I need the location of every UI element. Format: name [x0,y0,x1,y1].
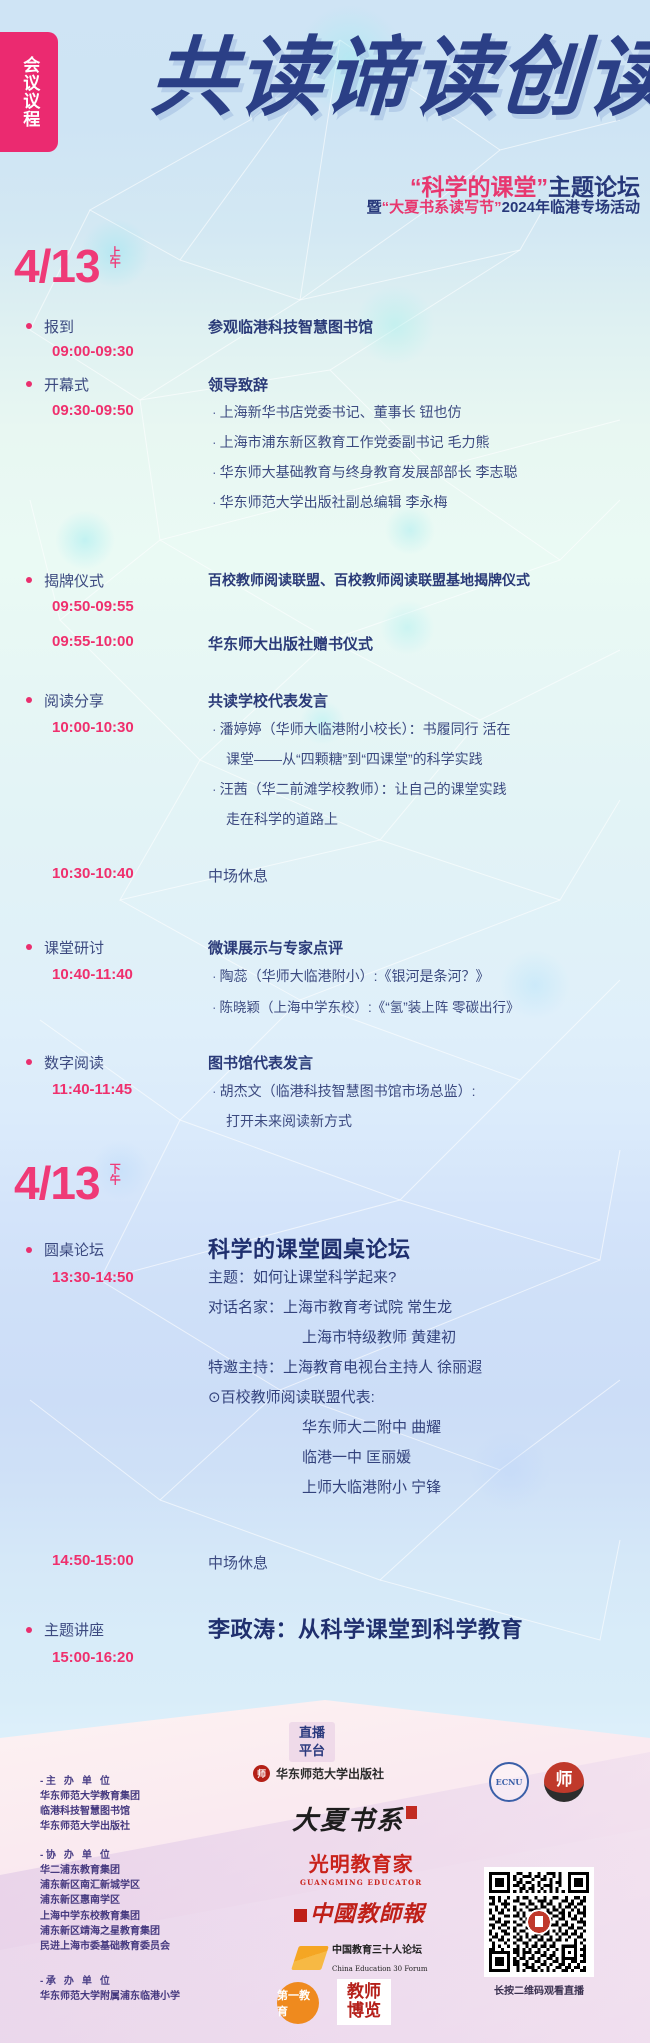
row-item-continuation: 打开未来阅读新方式 [226,1111,352,1131]
roundtable-guests-line2: 上海市特级教师 黄建初 [302,1326,456,1347]
item-dot: · [212,464,217,480]
row-heading: 参观临港科技智慧图书馆 [208,316,373,337]
ecnu-press-emblem-icon: 师 [544,1762,584,1802]
logo-jiaoshi-bolan: 教师 博览 [337,1979,391,2025]
item-dot: · [212,1000,217,1015]
guangming-cn: 光明教育家 [309,1852,414,1876]
row-item: ·潘婷婷（华师大临港附小校长）：书履同行 活在 [212,719,511,739]
organizer-item: 浦东新区惠南学区 [40,1893,170,1908]
ecnu-emblem-icon: ECNU [489,1762,529,1802]
row-item: ·上海新华书店党委书记、董事长 钮也仿 [212,402,462,422]
roundtable-alliance-label: ⊙百校教师阅读联盟代表: [208,1386,375,1407]
glow-blob [55,510,115,570]
hero-line2-rest: 2024年临港专场活动 [502,199,640,216]
organizer-group-co-host: -协 办 单 位 华二浦东教育集团 浦东新区南汇新城学区 浦东新区惠南学区 上海… [40,1846,170,1954]
row-bullet [26,1059,32,1065]
row-category: 主题讲座 [44,1619,104,1640]
item-dot: · [212,968,217,984]
forum30-en: China Education 30 Forum [332,1965,428,1973]
row-item: ·华东师大基础教育与终身教育发展部部长 李志聪 [212,462,518,482]
date-header-morning-ampm: 上午 [107,246,121,268]
item-dot: · [212,494,217,510]
row-time: 10:00-10:30 [52,719,134,736]
daxia-seal-icon [406,1806,417,1819]
guangming-label: 光明教育家 GUANGMING EDUCATOR [300,1848,422,1887]
qr-code[interactable] [484,1867,594,1977]
live-platform-badge: 直播 平台 [289,1722,335,1762]
organizer-item: 临港科技智慧图书馆 [40,1804,140,1819]
organizer-group-title: -主 办 单 位 [40,1772,140,1787]
organizer-item: 上海中学东校教育集团 [40,1909,170,1924]
row-heading: 微课展示与专家点评 [208,937,343,958]
row-item: ·胡杰文（临港科技智慧图书馆市场总监）: [212,1081,476,1101]
logo-daxia-series: 大夏书系 [292,1800,417,1837]
date-header-morning-date: 4/13 [14,243,100,289]
organizer-group-title: -协 办 单 位 [40,1846,170,1861]
row-category: 揭牌仪式 [44,570,104,591]
row-item-continuation: 走在科学的道路上 [226,809,338,829]
jiaoshi-bolan-line1: 教师 [347,1983,381,2002]
roundtable-theme: 主题：如何让课堂科学起来? [208,1266,396,1287]
row-category: 课堂研讨 [44,937,104,958]
row-category: 阅读分享 [44,690,104,711]
row-heading: 共读学校代表发言 [208,690,328,711]
logo-diyi-education: 第一教育 [277,1982,319,2024]
row-category: 数字阅读 [44,1052,104,1073]
item-dot: · [212,404,217,420]
jiaoshi-bolan-label: 教师 博览 [337,1979,391,2025]
date-header-afternoon-ampm: 下午 [107,1163,121,1185]
guangming-en: GUANGMING EDUCATOR [300,1878,422,1887]
roundtable-alliance-item: 华东师大二附中 曲耀 [302,1416,441,1437]
item-text: 华东师大基础教育与终身教育发展部部长 李志聪 [220,464,518,480]
logo-seal-blue: ECNU [489,1762,529,1802]
roundtable-host: 特邀主持：上海教育电视台主持人 徐丽遐 [208,1356,482,1377]
organizer-item: 华二浦东教育集团 [40,1863,170,1878]
row-bullet [26,944,32,950]
china-teacher-news-text: 中國教師報 [310,1901,425,1927]
item-text: 华东师范大学出版社副总编辑 李永梅 [220,494,448,510]
row-time-secondary: 09:55-10:00 [52,633,134,650]
row-time: 15:00-16:20 [52,1649,134,1666]
conference-agenda-badge: 会议议程 [0,32,58,152]
item-dot: · [212,434,217,450]
live-stream-qr-block: 长按二维码观看直播 [484,1867,594,1997]
qr-code-caption: 长按二维码观看直播 [484,1982,594,1997]
item-dot: · [212,781,217,797]
logo-guangming-educator: 光明教育家 GUANGMING EDUCATOR [300,1848,422,1887]
row-time: 09:00-09:30 [52,343,134,360]
organizer-item: 民进上海市委基础教育委员会 [40,1939,170,1954]
date-header-afternoon-date: 4/13 [14,1160,100,1206]
organizer-item: 华东师范大学附属浦东临港小学 [40,1989,180,2004]
jiaoshi-bolan-line2: 博览 [347,2002,381,2021]
logo-ecnu-press: 师 华东师范大学出版社 [253,1765,384,1782]
row-time: 11:40-11:45 [52,1081,132,1098]
row-bullet [26,697,32,703]
diyi-label: 第一教育 [277,1982,319,2024]
ecnu-press-label: 华东师范大学出版社 [276,1765,384,1782]
logo-china-teacher-news: 中國教師報 [294,1896,425,1928]
row-heading-secondary: 华东师大出版社赠书仪式 [208,633,373,654]
glow-blob [385,505,435,555]
row-item: ·陈晓颖（上海中学东校）:《“氢”装上阵 零碳出行》 [212,996,520,1016]
forum30-label: 中国教育三十人论坛 China Education 30 Forum [332,1940,428,1976]
row-heading: 百校教师阅读联盟、百校教师阅读联盟基地揭牌仪式 [208,570,530,590]
china-teacher-news-label: 中國教師報 [294,1896,425,1928]
item-text: 胡杰文（临港科技智慧图书馆市场总监）: [220,1083,476,1099]
row-item: ·汪茜（华二前滩学校教师）：让自己的课堂实践 [212,779,507,799]
row-time: 13:30-14:50 [52,1269,134,1286]
row-item: ·陶蕊（华师大临港附小）:《银河是条河？》 [212,966,490,986]
row-category: 圆桌论坛 [44,1239,104,1260]
item-dot: · [212,1083,217,1099]
row-item: ·上海市浦东新区教育工作党委副书记 毛力熊 [212,432,490,452]
row-time: 10:40-11:40 [52,966,133,983]
organizer-item: 华东师范大学出版社 [40,1819,140,1834]
forum30-cn: 中国教育三十人论坛 [332,1945,422,1956]
roundtable-guests: 对话名家：上海市教育考试院 常生龙 [208,1296,452,1317]
organizer-item: 浦东新区南汇新城学区 [40,1878,170,1893]
row-bullet [26,381,32,387]
hero-line2-quote: “大夏书系读写节” [382,199,502,216]
conference-agenda-badge-label: 会议议程 [18,42,40,142]
row-label: 中场休息 [208,865,268,886]
keynote-title: 李政涛：从科学课堂到科学教育 [208,1612,523,1644]
hero-subtitle-line2: 暨“大夏书系读写节”2024年临港专场活动 [180,196,640,217]
organizer-group-title: -承 办 单 位 [40,1972,180,1987]
organizer-item: 浦东新区靖海之星教育集团 [40,1924,170,1939]
page-title: 共读谛读创读 [148,35,643,121]
organizer-group-host: -主 办 单 位 华东师范大学教育集团 临港科技智慧图书馆 华东师范大学出版社 [40,1772,140,1835]
row-bullet [26,323,32,329]
roundtable-title: 科学的课堂圆桌论坛 [208,1232,411,1264]
row-time: 09:50-09:55 [52,598,134,615]
item-text: 汪茜（华二前滩学校教师）：让自己的课堂实践 [220,781,507,797]
item-text: 陶蕊（华师大临港附小）:《银河是条河？》 [220,968,490,984]
row-bullet [26,1627,32,1633]
roundtable-alliance-item: 临港一中 匡丽媛 [302,1446,411,1467]
hero-line2-prefix: 暨 [367,199,382,216]
row-heading: 图书馆代表发言 [208,1052,313,1073]
date-header-morning: 4/13 上午 [14,243,120,289]
live-badge-line2: 平台 [299,1742,325,1760]
organizer-item: 华东师范大学教育集团 [40,1789,140,1804]
glow-blob [470,1430,550,1510]
row-time: 10:30-10:40 [52,865,134,882]
roundtable-alliance-item: 上师大临港附小 宁锋 [302,1476,441,1497]
row-item: ·华东师范大学出版社副总编辑 李永梅 [212,492,448,512]
qr-code-svg [489,1872,589,1972]
item-text: 陈晓颖（上海中学东校）:《“氢”装上阵 零碳出行》 [220,1000,520,1015]
row-bullet [26,577,32,583]
logo-seal-red: 师 [544,1762,584,1802]
ecnu-press-seal-icon: 师 [253,1765,270,1782]
china-teacher-news-seal-icon [294,1909,307,1922]
row-item-continuation: 课堂——从“四颗糖”到“四课堂”的科学实践 [226,749,483,769]
date-header-afternoon: 4/13 下午 [14,1160,120,1206]
row-category: 开幕式 [44,374,89,395]
item-dot: · [212,721,217,737]
row-time: 14:50-15:00 [52,1552,134,1569]
poster-root: 会议议程 共读谛读创读 “科学的课堂”主题论坛 暨“大夏书系读写节”2024年临… [0,0,650,2043]
organizer-group-organizer: -承 办 单 位 华东师范大学附属浦东临港小学 [40,1972,180,2004]
glow-blob [380,600,435,655]
item-text: 上海新华书店党委书记、董事长 钮也仿 [220,404,462,420]
logo-china-education-30-forum: 中国教育三十人论坛 China Education 30 Forum [295,1940,428,1976]
item-text: 潘婷婷（华师大临港附小校长）：书履同行 活在 [220,721,511,737]
row-label: 中场休息 [208,1552,268,1573]
live-badge-line1: 直播 [299,1724,325,1742]
row-bullet [26,1247,32,1253]
daxia-text: 大夏书系 [292,1806,404,1836]
row-time: 09:30-09:50 [52,402,134,419]
forum30-mark-icon [291,1946,329,1970]
daxia-label: 大夏书系 [292,1800,417,1837]
item-text: 上海市浦东新区教育工作党委副书记 毛力熊 [220,434,490,450]
row-heading: 领导致辞 [208,374,268,395]
row-category: 报到 [44,316,74,337]
